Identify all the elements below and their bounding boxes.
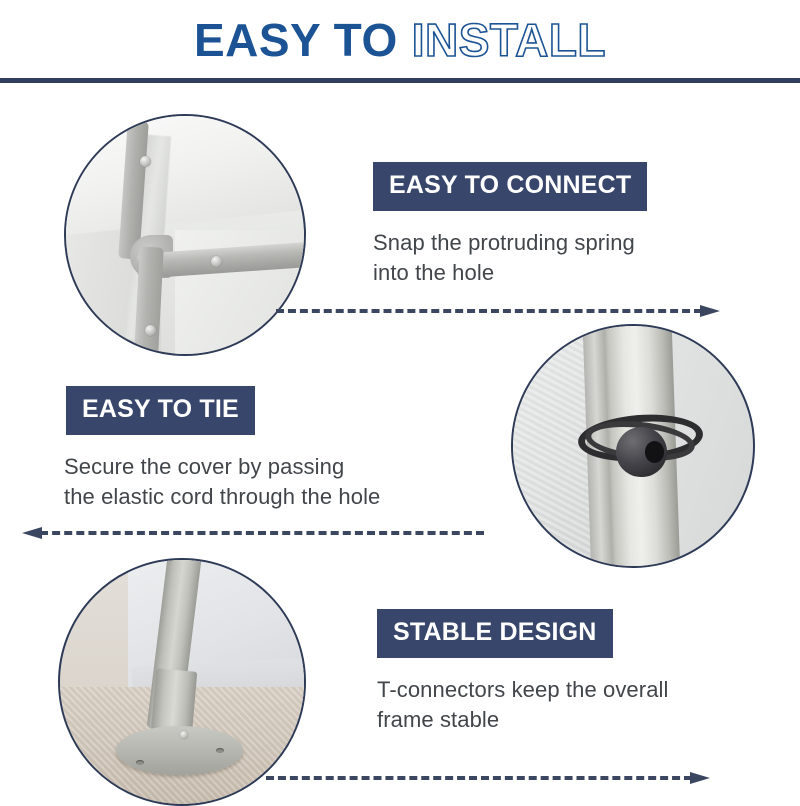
tent-corner-connector-photo — [64, 114, 306, 356]
body-easy-to-connect: Snap the protruding spring into the hole — [373, 228, 703, 289]
arrow-head-right-icon — [700, 305, 720, 317]
page-title: EASY TO INSTALL — [194, 17, 606, 63]
base-plate-hole-icon — [216, 748, 224, 753]
chip-easy-to-tie: EASY TO TIE — [66, 386, 255, 435]
page-title-outline: INSTALL — [412, 17, 606, 63]
chip-easy-to-connect: EASY TO CONNECT — [373, 162, 647, 211]
arrow-head-right-icon — [690, 772, 710, 784]
elastic-cord-ball-toggle-photo — [511, 324, 755, 568]
arrow-tie-to-stable — [22, 527, 484, 539]
chip-stable-design: STABLE DESIGN — [377, 609, 613, 658]
infographic-page: EASY TO INSTALL EASY TO CONNECT Snap the… — [0, 0, 800, 800]
cord-ball-hole — [645, 441, 664, 463]
body-easy-to-tie: Secure the cover by passing the elastic … — [64, 452, 424, 513]
pole-base-plate-photo — [58, 558, 306, 806]
arrow-head-left-icon — [22, 527, 42, 539]
arrow-connect-to-tie — [276, 305, 720, 317]
tent-roof-panel — [64, 114, 306, 237]
arrow-dashed-line — [276, 309, 702, 313]
arrow-stable-end — [266, 772, 710, 784]
arrow-dashed-line — [40, 531, 484, 535]
base-plate-hole-icon — [136, 760, 144, 765]
rivet-icon — [145, 325, 156, 336]
header-divider — [0, 78, 800, 83]
body-stable-design: T-connectors keep the overall frame stab… — [377, 675, 707, 736]
header: EASY TO INSTALL — [0, 0, 800, 80]
rivet-icon — [180, 731, 188, 739]
arrow-dashed-line — [266, 776, 692, 780]
page-title-solid: EASY TO — [194, 17, 398, 63]
